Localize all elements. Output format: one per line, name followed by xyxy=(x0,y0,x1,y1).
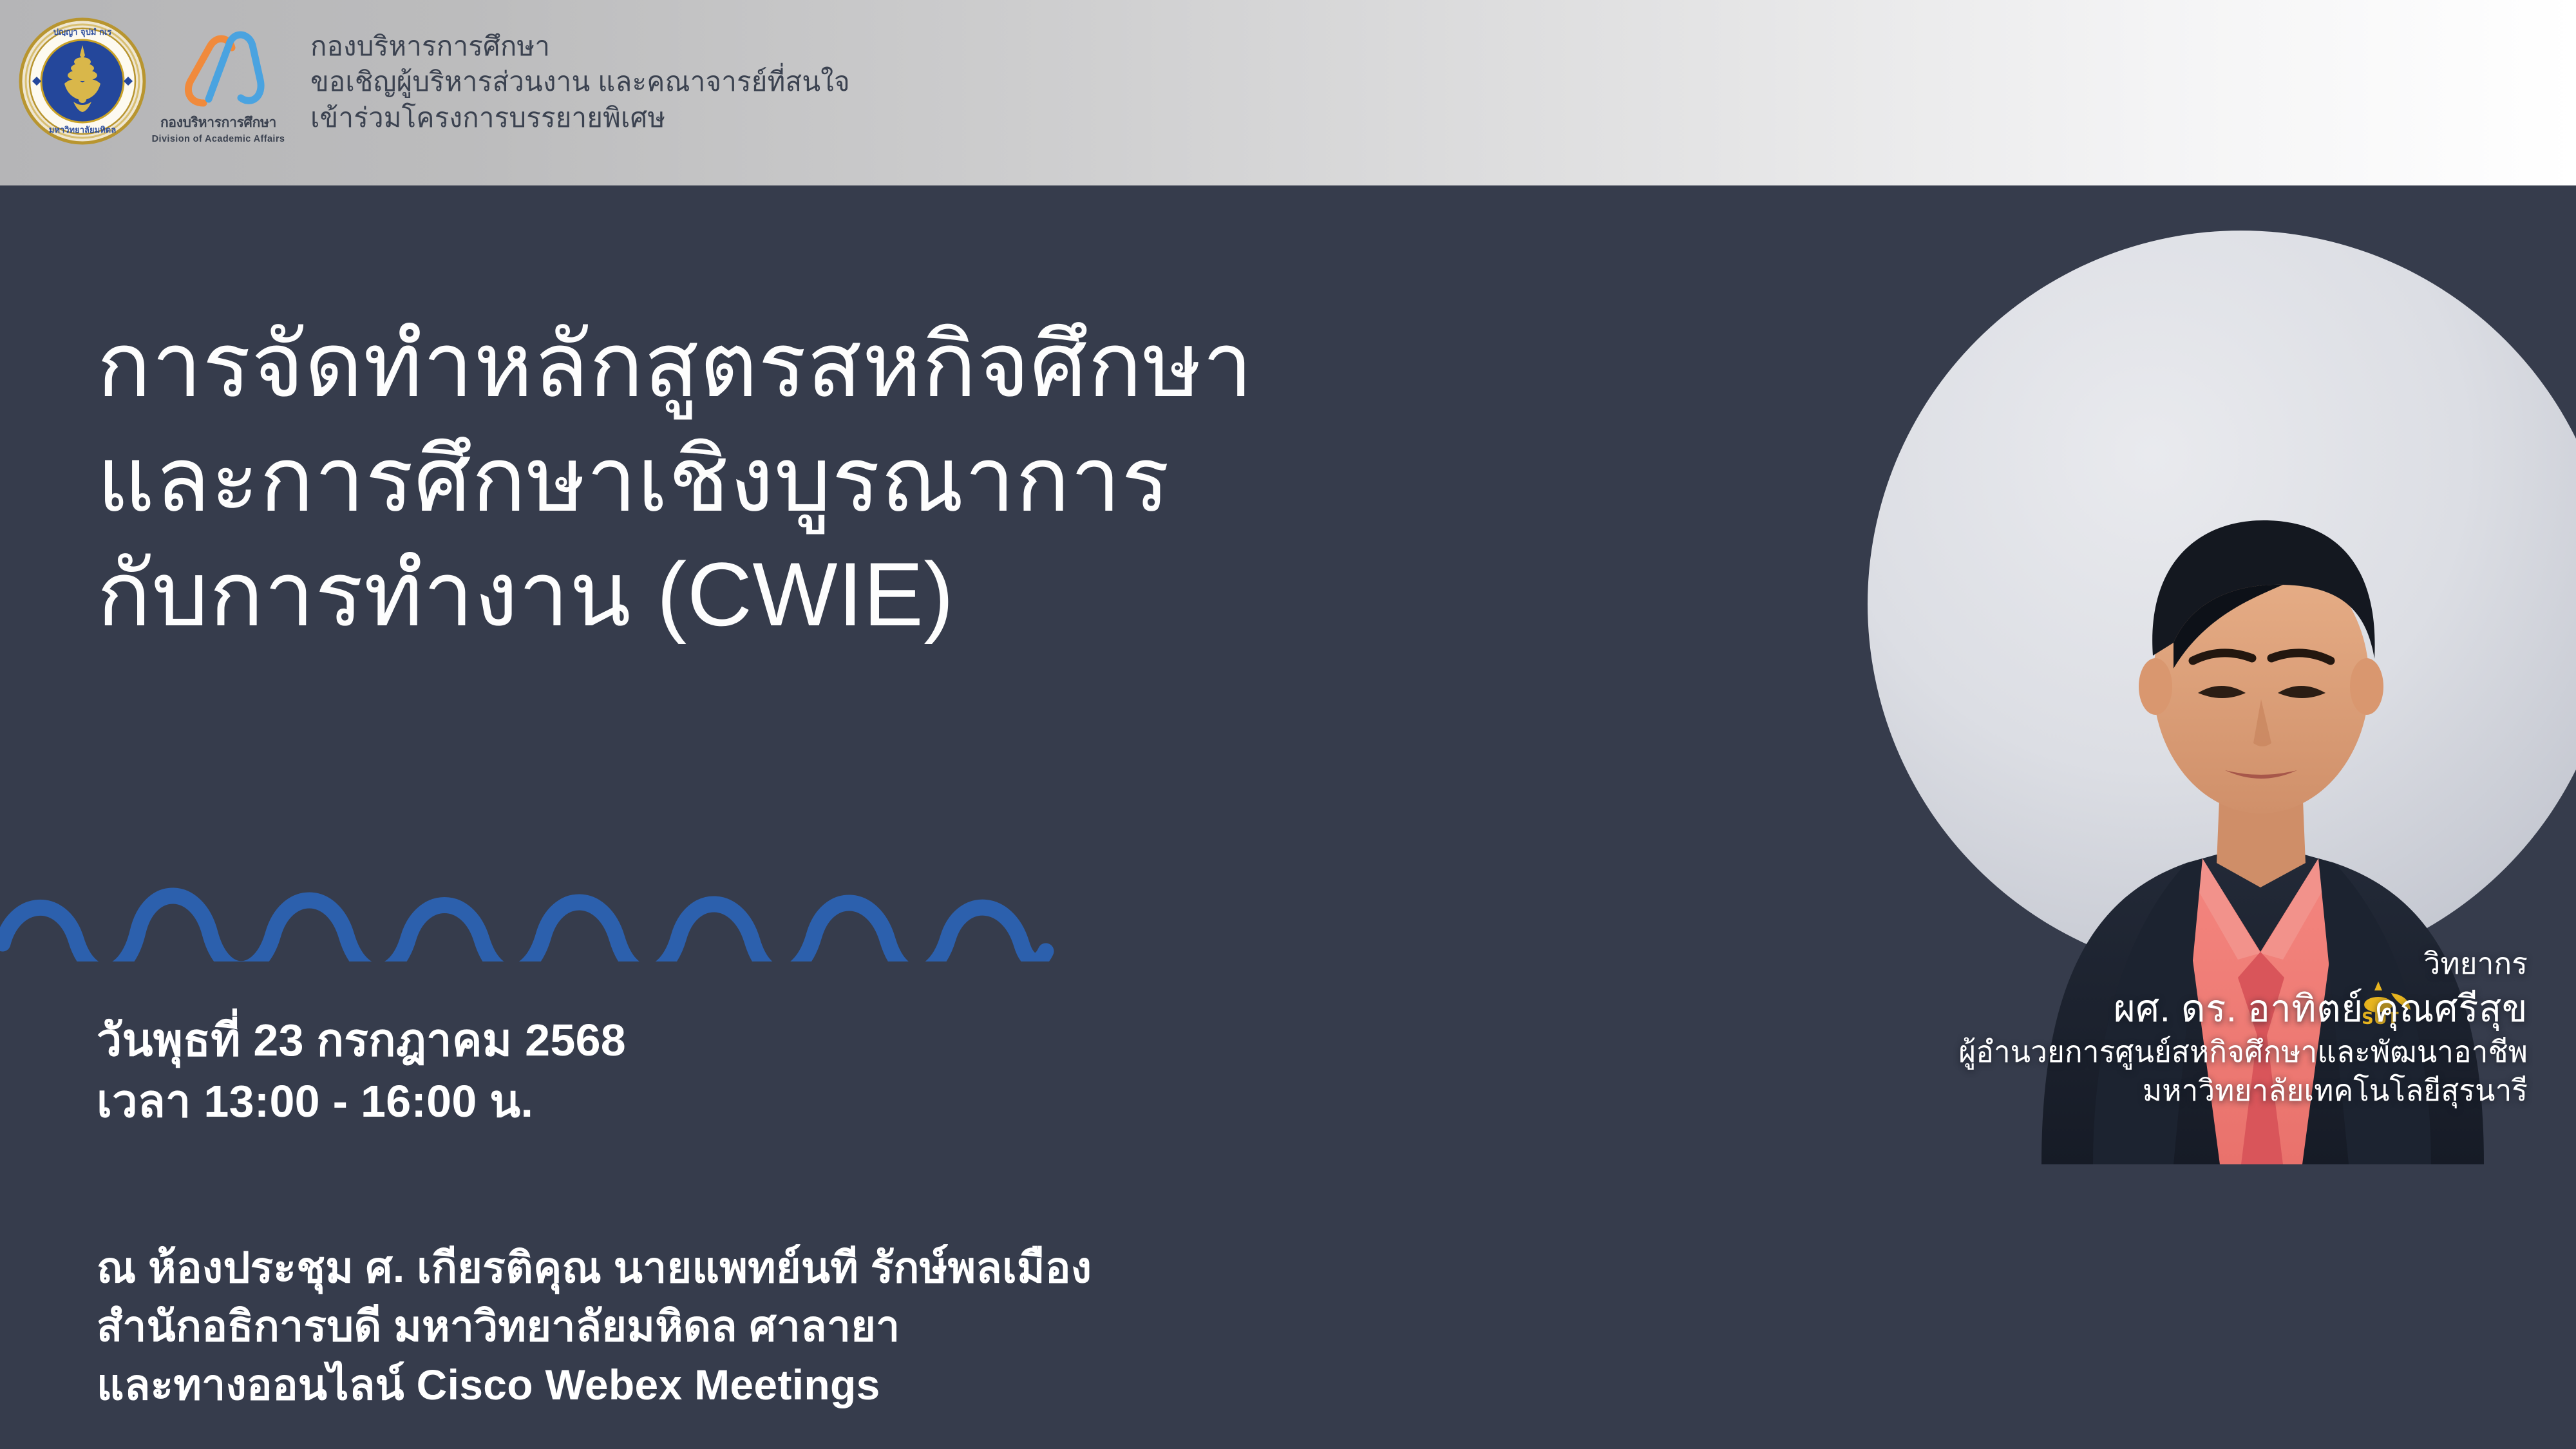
speaker-position: ผู้อำนวยการศูนย์สหกิจศึกษาและพัฒนาอาชีพ xyxy=(1787,1033,2528,1072)
division-academic-affairs-logo: กองบริหารการศึกษา Division of Academic A… xyxy=(164,21,273,153)
event-venue-block: ณ ห้องประชุม ศ. เกียรติคุณ นายแพทย์นที ร… xyxy=(97,1238,1092,1414)
header-line-1: กองบริหารการศึกษา xyxy=(310,28,850,64)
header-inner: ปญฺญา จุปมํ กเร มหาวิทยาลัยมหิดล กองบริห… xyxy=(0,0,850,153)
speaker-role-label: วิทยากร xyxy=(1787,945,2528,983)
blue-wave-divider-icon xyxy=(0,884,1056,961)
daa-mark-icon xyxy=(170,21,267,111)
event-date: วันพุธที่ 23 กรกฎาคม 2568 xyxy=(97,1010,626,1071)
speaker-organization: มหาวิทยาลัยเทคโนโลยีสุรนารี xyxy=(1787,1072,2528,1110)
svg-text:มหาวิทยาลัยมหิดล: มหาวิทยาลัยมหิดล xyxy=(49,126,116,135)
speaker-name: ผศ. ดร. อาทิตย์ คุณศรีสุข xyxy=(1787,985,2528,1033)
daa-logo-en-label: Division of Academic Affairs xyxy=(152,134,285,144)
mahidol-seal-icon: ปญฺญา จุปมํ กเร มหาวิทยาลัยมหิดล xyxy=(18,17,147,146)
title-line-1: การจัดทำหลักสูตรสหกิจศึกษา xyxy=(97,308,1835,422)
speaker-portrait-area: SUT xyxy=(1752,185,2576,1449)
daa-logo-th-label: กองบริหารการศึกษา xyxy=(160,112,276,133)
title-line-2: และการศึกษาเชิงบูรณาการ xyxy=(97,422,1835,537)
poster-body: SUT วิทยากร ผศ. ดร. อาทิตย์ คุณศรีสุข ผู… xyxy=(0,185,2576,1449)
page-title: การจัดทำหลักสูตรสหกิจศึกษา และการศึกษาเช… xyxy=(97,308,1835,651)
header-text-block: กองบริหารการศึกษา ขอเชิญผู้บริหารส่วนงาน… xyxy=(310,28,850,135)
event-datetime-block: วันพุธที่ 23 กรกฎาคม 2568 เวลา 13:00 - 1… xyxy=(97,1010,626,1132)
event-time: เวลา 13:00 - 16:00 น. xyxy=(97,1071,626,1132)
header-line-3: เข้าร่วมโครงการบรรยายพิเศษ xyxy=(310,100,850,135)
speaker-info-block: วิทยากร ผศ. ดร. อาทิตย์ คุณศรีสุข ผู้อำน… xyxy=(1787,945,2528,1110)
header-line-2: ขอเชิญผู้บริหารส่วนงาน และคณาจารย์ที่สนใ… xyxy=(310,64,850,99)
venue-line-3: และทางออนไลน์ Cisco Webex Meetings xyxy=(97,1356,1092,1414)
svg-text:ปญฺญา จุปมํ กเร: ปญฺญา จุปมํ กเร xyxy=(53,27,112,37)
event-poster: ปญฺญา จุปมํ กเร มหาวิทยาลัยมหิดล กองบริห… xyxy=(0,0,2576,1449)
title-line-3: กับการทำงาน (CWIE) xyxy=(97,537,1835,652)
venue-line-2: สำนักอธิการบดี มหาวิทยาลัยมหิดล ศาลายา xyxy=(97,1297,1092,1356)
venue-line-1: ณ ห้องประชุม ศ. เกียรติคุณ นายแพทย์นที ร… xyxy=(97,1238,1092,1297)
portrait-bottom-fade xyxy=(1752,1236,2576,1449)
poster-header: ปญฺญา จุปมํ กเร มหาวิทยาลัยมหิดล กองบริห… xyxy=(0,0,2576,185)
